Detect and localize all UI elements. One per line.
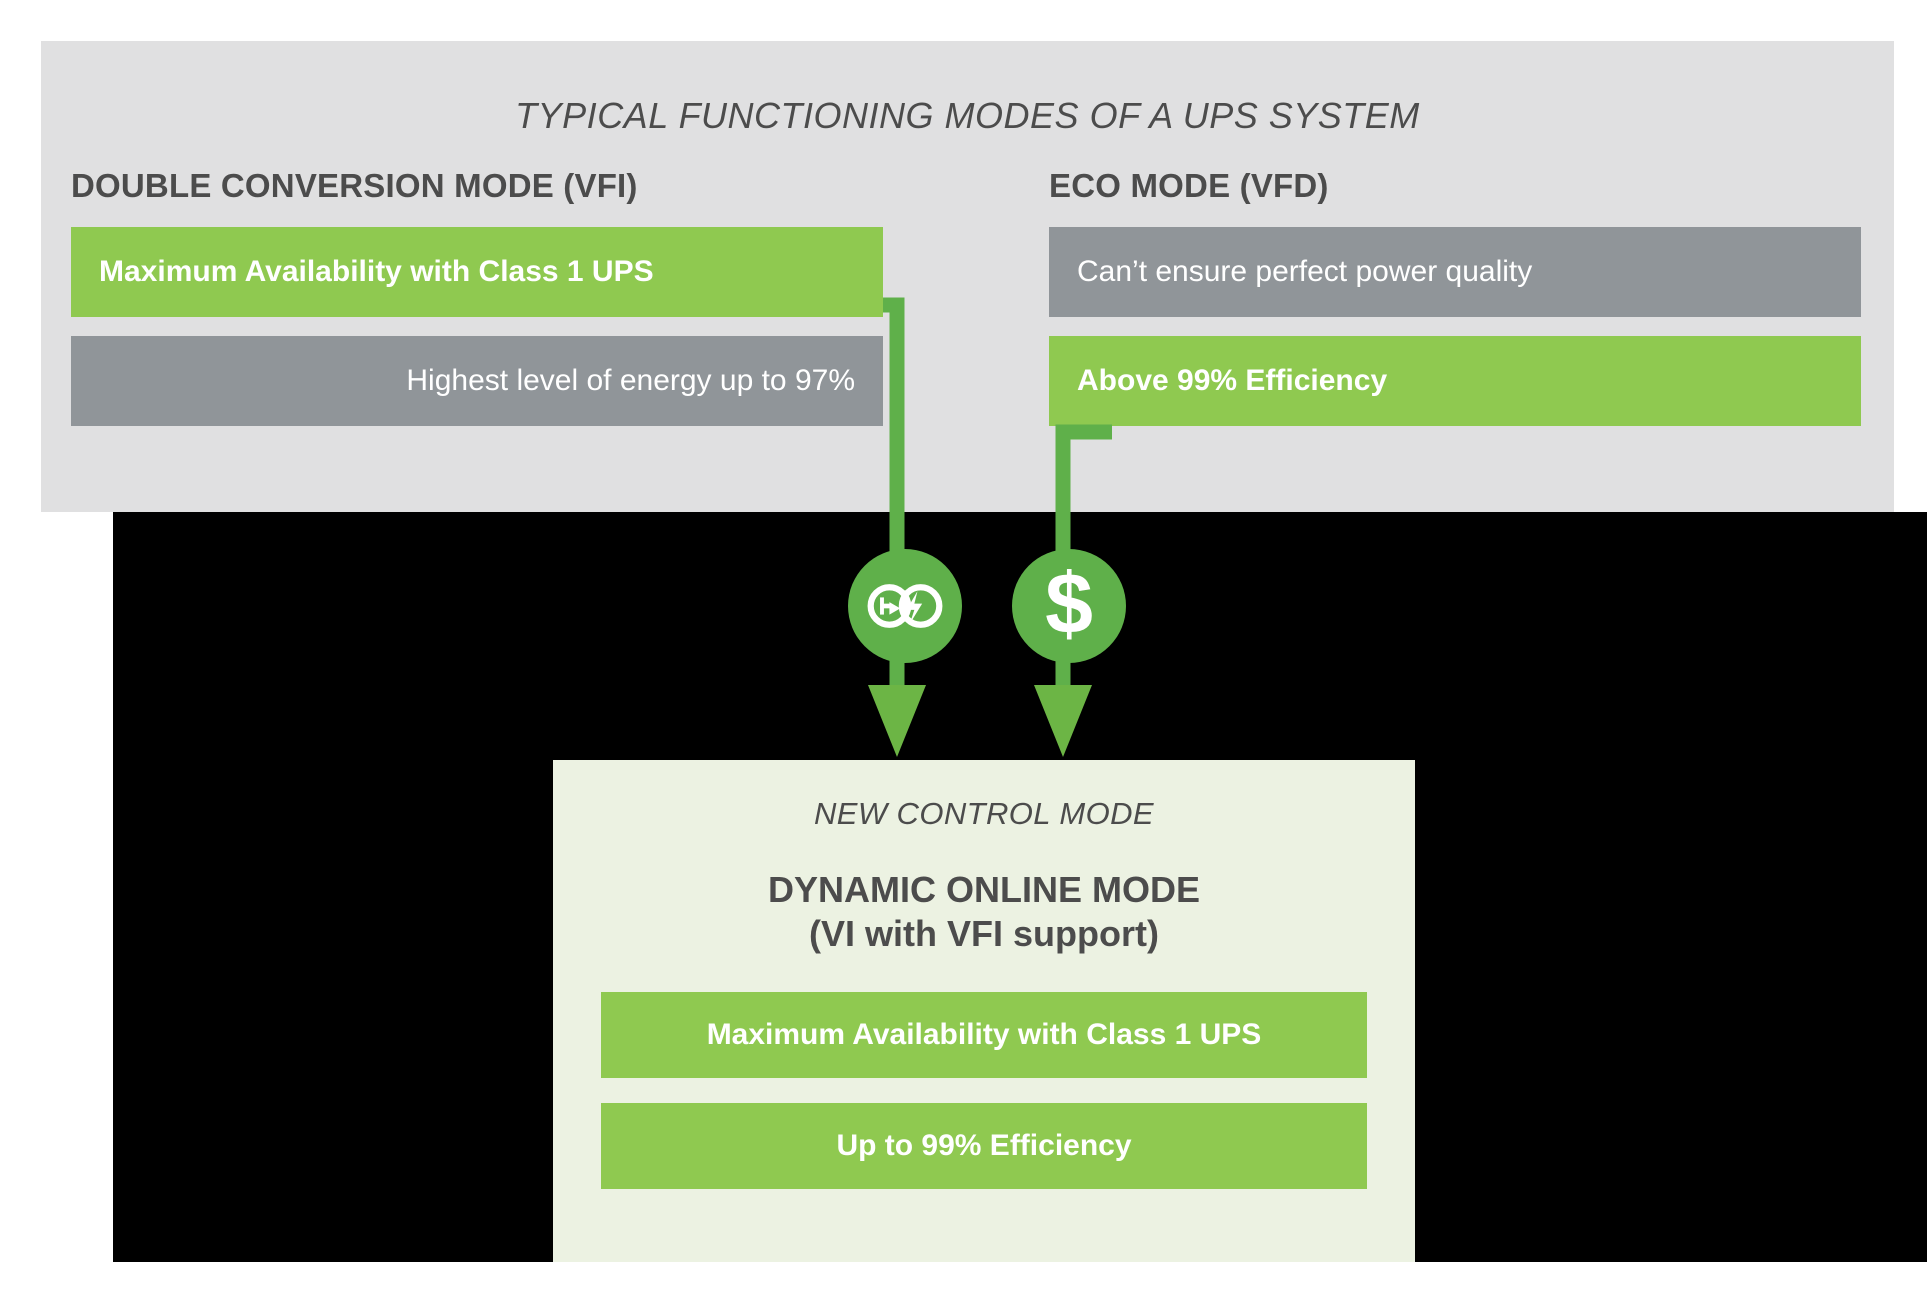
new-control-mode-card: NEW CONTROL MODE DYNAMIC ONLINE MODE (VI…	[553, 760, 1415, 1262]
svg-text:$: $	[1045, 565, 1093, 647]
energy-plug-infinity-icon	[848, 549, 962, 663]
column-eco-mode: ECO MODE (VFD) Can’t ensure perfect powe…	[1049, 168, 1861, 445]
card-eyebrow-label: NEW CONTROL MODE	[601, 796, 1367, 832]
bar-power-quality-warning: Can’t ensure perfect power quality	[1049, 227, 1861, 317]
card-bar-max-availability: Maximum Availability with Class 1 UPS	[601, 992, 1367, 1078]
bar-above-99-efficiency: Above 99% Efficiency	[1049, 336, 1861, 426]
card-bar-up-to-99-efficiency: Up to 99% Efficiency	[601, 1103, 1367, 1189]
column-double-conversion-mode: DOUBLE CONVERSION MODE (VFI) Maximum Ava…	[71, 168, 883, 445]
page-title: TYPICAL FUNCTIONING MODES OF A UPS SYSTE…	[41, 95, 1894, 137]
infographic-stage: TYPICAL FUNCTIONING MODES OF A UPS SYSTE…	[0, 0, 1927, 1311]
column-heading-double-conversion: DOUBLE CONVERSION MODE (VFI)	[71, 168, 883, 204]
bar-highest-energy-level: Highest level of energy up to 97%	[71, 336, 883, 426]
card-title-dynamic-online-mode: DYNAMIC ONLINE MODE (VI with VFI support…	[601, 868, 1367, 956]
dollar-sign-icon: $	[1012, 549, 1126, 663]
column-heading-eco-mode: ECO MODE (VFD)	[1049, 168, 1861, 204]
bar-max-availability-vfi: Maximum Availability with Class 1 UPS	[71, 227, 883, 317]
